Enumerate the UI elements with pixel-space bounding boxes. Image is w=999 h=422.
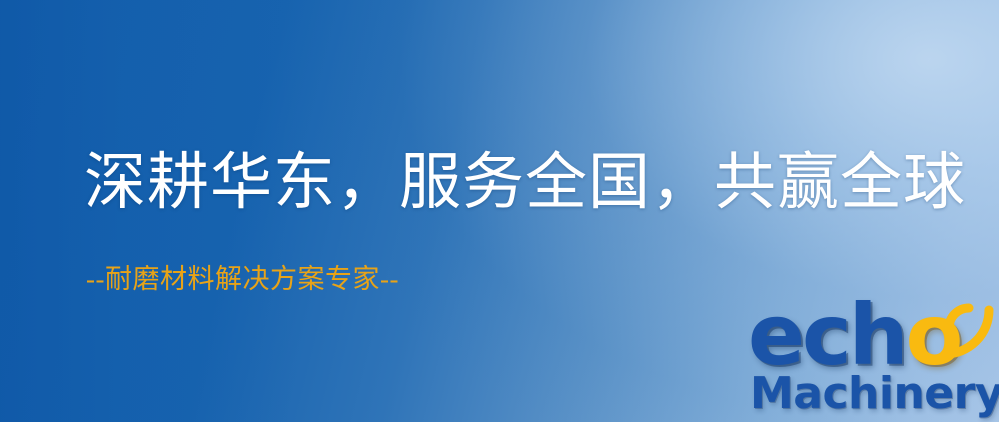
logo-wordmark-blue-text: ech bbox=[748, 292, 906, 378]
promotional-banner: 深耕华东，服务全国，共赢全球 --耐磨材料解决方案专家-- ech o Mach… bbox=[0, 0, 999, 422]
company-logo: ech o Machinery ® bbox=[748, 296, 999, 422]
logo-tagline-text: Machinery bbox=[750, 370, 999, 418]
banner-headline: 深耕华东，服务全国，共赢全球 bbox=[84, 152, 966, 214]
banner-subtitle: --耐磨材料解决方案专家-- bbox=[86, 266, 399, 293]
logo-wordmark-gold-letter: o bbox=[906, 292, 961, 378]
logo-tagline: Machinery ® bbox=[750, 370, 999, 422]
logo-wordmark: ech o bbox=[748, 292, 960, 378]
